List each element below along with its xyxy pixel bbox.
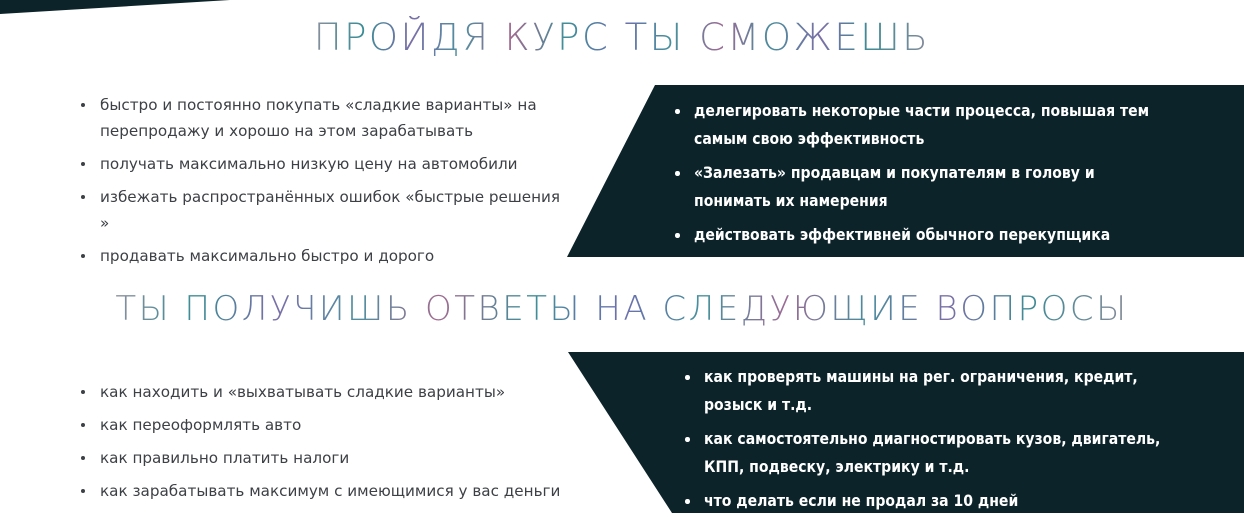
list-item: как самостоятельно диагностировать кузов… xyxy=(682,425,1192,481)
list-item: «Залезать» продавцам и покупателям в гол… xyxy=(672,159,1172,215)
list-item: получать максимально низкую цену на авто… xyxy=(78,151,568,177)
abilities-left-list: быстро и постоянно покупать «сладкие вар… xyxy=(78,92,568,276)
slide-canvas: ПРОЙДЯ КУРС ТЫ СМОЖЕШЬ быстро и постоянн… xyxy=(0,0,1244,523)
list-item: как проверять машины на рег. ограничения… xyxy=(682,363,1192,419)
abilities-highlight-panel: делегировать некоторые части процесса, п… xyxy=(560,85,1244,257)
page-title-abilities-text: ПРОЙДЯ КУРС ТЫ СМОЖЕШЬ xyxy=(314,16,930,60)
page-title-questions-text: ТЫ ПОЛУЧИШЬ ОТВЕТЫ НА СЛЕДУЮЩИЕ ВОПРОСЫ xyxy=(115,288,1128,330)
list-item: быстро и постоянно покупать «сладкие вар… xyxy=(78,92,568,144)
list-item: как находить и «выхватывать сладкие вари… xyxy=(78,379,578,405)
list-item: как зарабатывать максимум с имеющимися у… xyxy=(78,478,578,504)
page-title-questions: ТЫ ПОЛУЧИШЬ ОТВЕТЫ НА СЛЕДУЮЩИЕ ВОПРОСЫ xyxy=(0,288,1244,330)
list-item: продавать максимально быстро и дорого xyxy=(78,243,568,269)
questions-left-list: как находить и «выхватывать сладкие вари… xyxy=(78,379,578,511)
abilities-right-list: делегировать некоторые части процесса, п… xyxy=(672,97,1172,255)
list-item: делегировать некоторые части процесса, п… xyxy=(672,97,1172,153)
list-item: что делать если не продал за 10 дней xyxy=(682,487,1192,515)
list-item: как правильно платить налоги xyxy=(78,445,578,471)
corner-accent-wedge xyxy=(0,0,230,14)
list-item: избежать распространённых ошибок «быстры… xyxy=(78,184,568,236)
page-title-abilities: ПРОЙДЯ КУРС ТЫ СМОЖЕШЬ xyxy=(0,16,1244,60)
list-item: как переоформлять авто xyxy=(78,412,578,438)
questions-highlight-panel: как проверять машины на рег. ограничения… xyxy=(560,352,1244,513)
questions-right-list: как проверять машины на рег. ограничения… xyxy=(682,363,1192,521)
list-item: действовать эффективней обычного перекуп… xyxy=(672,221,1172,249)
